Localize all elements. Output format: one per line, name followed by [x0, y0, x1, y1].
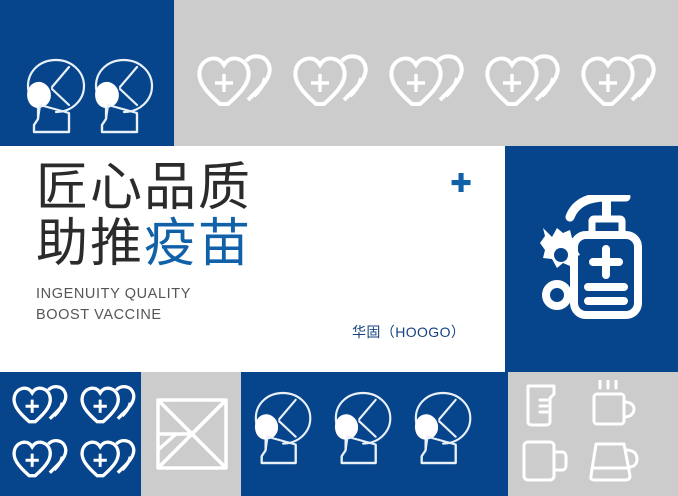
headline-line-2-accent: 疫苗: [144, 215, 252, 273]
double-heart-plus-icon: [10, 382, 72, 432]
measuring-beaker-icon: [520, 382, 564, 428]
headline-block: 匠心品质 助推疫苗 INGENUITY QUALITY BOOST VACCIN…: [36, 160, 466, 326]
masked-head-icon: [330, 388, 400, 468]
steaming-mug-icon: [586, 380, 640, 430]
kitchenware-icon-grid: [520, 382, 665, 488]
double-heart-icon-row: [174, 50, 678, 120]
masked-head-icon: [410, 388, 480, 468]
double-heart-plus-icon: [78, 382, 140, 432]
double-heart-plus-icon: [482, 50, 566, 118]
masked-head-icon: [90, 55, 162, 137]
double-heart-plus-icon: [386, 50, 470, 118]
medical-plus-icon: ✚: [450, 172, 472, 194]
masked-head-icon: [22, 55, 94, 137]
double-heart-plus-icon: [10, 436, 72, 486]
crossed-box-placeholder-icon: [156, 398, 228, 470]
headline-line-1-text: 匠心品质: [36, 159, 252, 217]
brand-name: 华固（HOOGO）: [352, 322, 465, 342]
kettle-pitcher-icon: [586, 438, 642, 484]
headline-line-2-dark: 助推: [36, 215, 144, 273]
double-heart-icon-grid: [10, 382, 135, 486]
double-heart-plus-icon: [290, 50, 374, 118]
hand-sanitizer-bottle-icon: [530, 195, 660, 323]
double-heart-plus-icon: [194, 50, 278, 118]
poster-canvas: 匠心品质 助推疫苗 INGENUITY QUALITY BOOST VACCIN…: [0, 0, 678, 496]
double-heart-plus-icon: [578, 50, 662, 118]
mug-icon: [520, 438, 572, 484]
subhead-block: INGENUITY QUALITY BOOST VACCINE: [36, 284, 466, 326]
double-heart-plus-icon: [78, 436, 140, 486]
subhead-line-1: INGENUITY QUALITY: [36, 284, 466, 305]
masked-head-icon-row: [250, 388, 500, 480]
headline-line-1: 匠心品质: [36, 160, 466, 216]
masked-head-icon: [250, 388, 320, 468]
headline-line-2: 助推疫苗: [36, 216, 466, 272]
